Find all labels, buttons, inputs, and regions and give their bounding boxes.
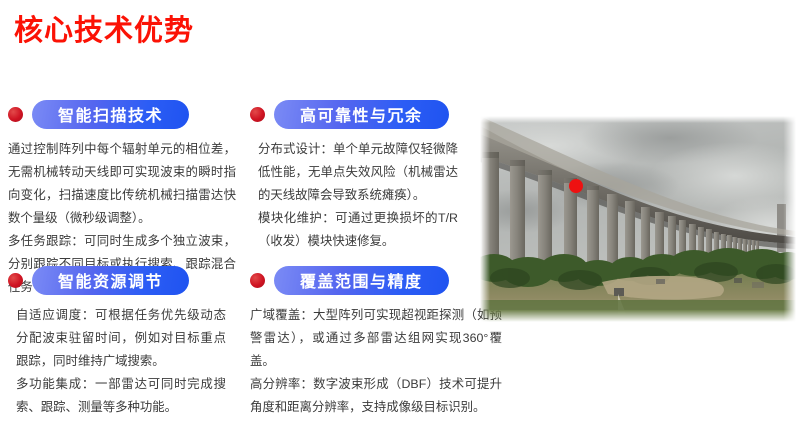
page-title: 核心技术优势	[14, 14, 194, 48]
feature-badge-coverage[interactable]: 覆盖范围与精度	[274, 266, 449, 295]
feature-paragraph: 分布式设计：单个单元故障仅轻微降低性能，无单点失效风险（机械雷达的天线故障会导致…	[258, 138, 458, 207]
feature-paragraph: 多功能集成：一部雷达可同时完成搜索、跟踪、测量等多种功能。	[16, 373, 226, 419]
feature-body-resource: 自适应调度：可根据任务优先级动态分配波束驻留时间，例如对目标重点跟踪，同时维持广…	[8, 304, 226, 419]
slide-root: { "slide": { "title": "核心技术优势", "title_c…	[0, 0, 800, 443]
bridge-photo-illustration	[480, 116, 796, 322]
feature-card-reliability: 高可靠性与冗余 分布式设计：单个单元故障仅轻微降低性能，无单点失效风险（机械雷达…	[250, 99, 460, 253]
feature-paragraph: 通过控制阵列中每个辐射单元的相位差，无需机械转动天线即可实现波束的瞬时指向变化，…	[8, 138, 236, 230]
feature-header: 高可靠性与冗余	[250, 99, 460, 129]
bridge-photo	[480, 116, 796, 322]
feature-header: 智能资源调节	[8, 265, 240, 295]
feature-body-reliability: 分布式设计：单个单元故障仅轻微降低性能，无单点失效风险（机械雷达的天线故障会导致…	[250, 138, 458, 253]
bullet-dot-icon	[250, 107, 265, 122]
feature-body-coverage: 广域覆盖：大型阵列可实现超视距探测（如预警雷达），或通过多部雷达组网实现360°…	[250, 304, 502, 419]
bullet-dot-icon	[250, 273, 265, 288]
feature-card-coverage: 覆盖范围与精度 广域覆盖：大型阵列可实现超视距探测（如预警雷达），或通过多部雷达…	[250, 265, 496, 419]
feature-paragraph: 广域覆盖：大型阵列可实现超视距探测（如预警雷达），或通过多部雷达组网实现360°…	[250, 304, 502, 373]
feature-header: 覆盖范围与精度	[250, 265, 496, 295]
feature-paragraph: 高分辨率：数字波束形成（DBF）技术可提升角度和距离分辨率，支持成像级目标识别。	[250, 373, 502, 419]
feature-card-resource: 智能资源调节 自适应调度：可根据任务优先级动态分配波束驻留时间，例如对目标重点跟…	[8, 265, 240, 419]
feature-paragraph: 模块化维护：可通过更换损坏的T/R（收发）模块快速修复。	[258, 207, 458, 253]
feature-paragraph: 自适应调度：可根据任务优先级动态分配波束驻留时间，例如对目标重点跟踪，同时维持广…	[16, 304, 226, 373]
feature-badge-reliability[interactable]: 高可靠性与冗余	[274, 100, 449, 129]
bullet-dot-icon	[8, 273, 23, 288]
feature-badge-scan[interactable]: 智能扫描技术	[32, 100, 189, 129]
photo-red-marker-icon	[569, 179, 583, 193]
bullet-dot-icon	[8, 107, 23, 122]
feature-header: 智能扫描技术	[8, 99, 240, 129]
feature-badge-resource[interactable]: 智能资源调节	[32, 266, 189, 295]
